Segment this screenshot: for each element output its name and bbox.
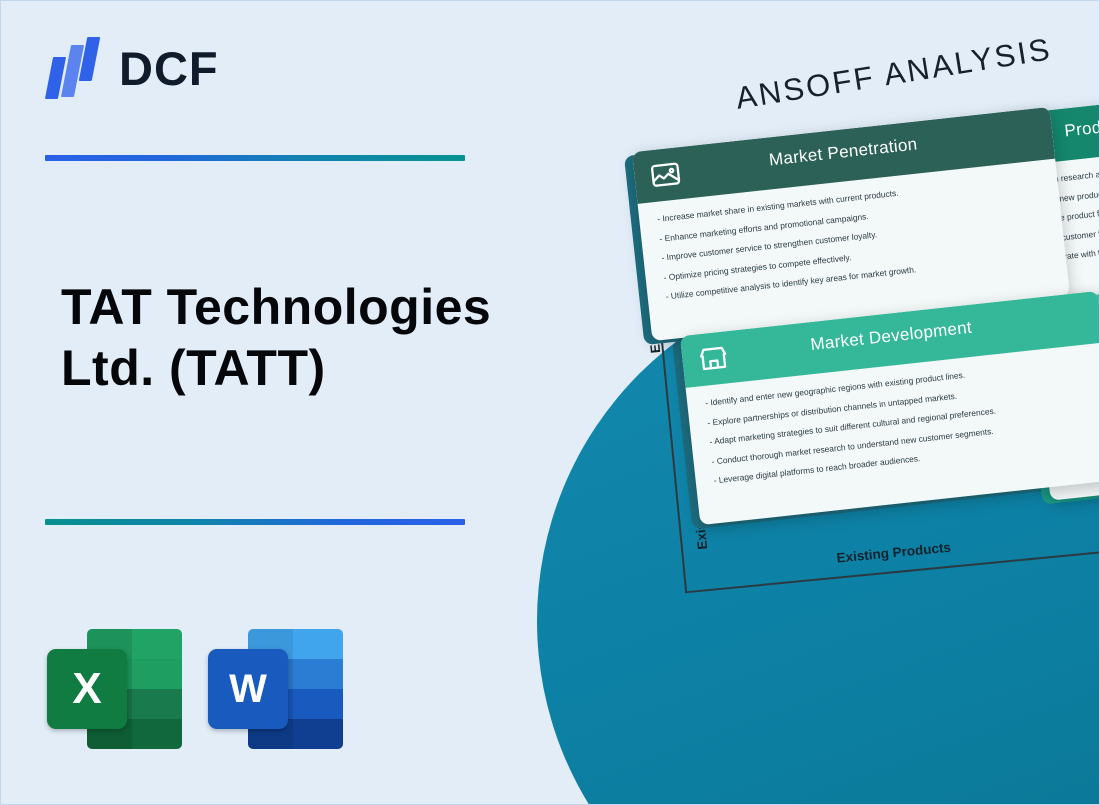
ansoff-analysis-page: DCF TAT Technologies Ltd. (TATT) X [0,0,1100,805]
dcf-logo-mark-icon [45,35,107,101]
divider-top [45,155,465,161]
page-title: TAT Technologies Ltd. (TATT) [61,277,541,399]
left-info-panel: DCF TAT Technologies Ltd. (TATT) X [1,1,561,805]
dcf-logo-text: DCF [119,40,219,98]
excel-icon-letter: X [47,649,127,729]
divider-bottom [45,519,465,525]
download-icons-group: X W [47,623,343,749]
ansoff-matrix-diagram: Existing Markets Existing Markets Existi… [521,1,1100,805]
word-icon-letter: W [208,649,288,729]
x-axis-label: Existing Products [836,540,952,566]
dcf-logo[interactable]: DCF [45,35,365,105]
excel-file-icon[interactable]: X [47,623,182,749]
logo-bar-3 [79,37,101,81]
word-file-icon[interactable]: W [208,623,343,749]
